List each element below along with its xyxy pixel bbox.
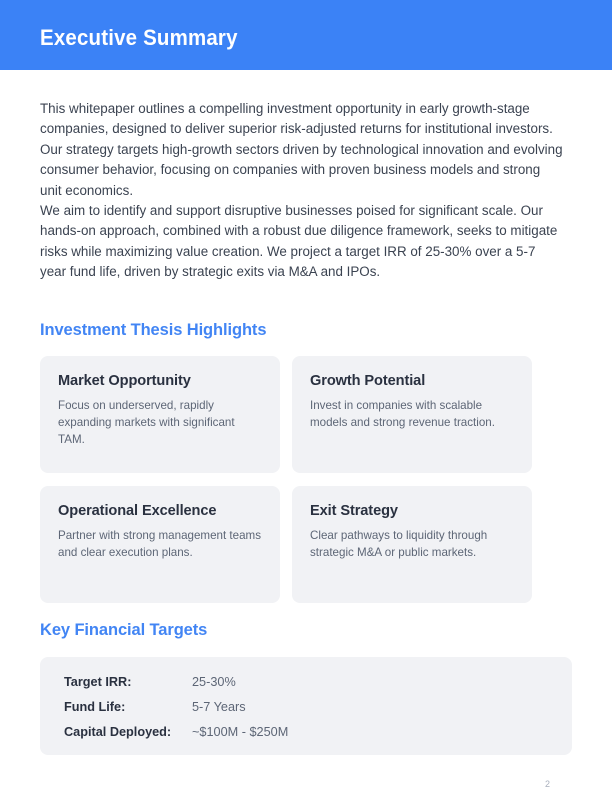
page-header-banner: Executive Summary bbox=[0, 0, 612, 70]
thesis-cards-grid: Market Opportunity Focus on underserved,… bbox=[40, 356, 532, 603]
card-title: Operational Excellence bbox=[58, 502, 262, 520]
card-description: Partner with strong management teams and… bbox=[58, 527, 262, 561]
section-heading-key-financial-targets: Key Financial Targets bbox=[40, 620, 207, 640]
card-description: Focus on underserved, rapidly expanding … bbox=[58, 397, 262, 448]
intro-paragraphs: This whitepaper outlines a compelling in… bbox=[40, 99, 563, 283]
card-title: Growth Potential bbox=[310, 372, 514, 390]
intro-paragraph-1: This whitepaper outlines a compelling in… bbox=[40, 99, 563, 201]
thesis-card-market-opportunity: Market Opportunity Focus on underserved,… bbox=[40, 356, 280, 473]
card-title: Market Opportunity bbox=[58, 372, 262, 390]
target-value: 5-7 Years bbox=[192, 698, 572, 723]
financial-targets-panel: Target IRR: 25-30% Fund Life: 5-7 Years … bbox=[40, 657, 572, 755]
card-description: Invest in companies with scalable models… bbox=[310, 397, 514, 431]
target-value: 25-30% bbox=[192, 673, 572, 698]
section-heading-investment-thesis: Investment Thesis Highlights bbox=[40, 320, 266, 340]
target-label: Capital Deployed: bbox=[64, 723, 192, 748]
table-row: Target IRR: 25-30% bbox=[64, 673, 572, 698]
card-title: Exit Strategy bbox=[310, 502, 514, 520]
thesis-card-exit-strategy: Exit Strategy Clear pathways to liquidit… bbox=[292, 486, 532, 603]
card-description: Clear pathways to liquidity through stra… bbox=[310, 527, 514, 561]
target-label: Fund Life: bbox=[64, 698, 192, 723]
page-title: Executive Summary bbox=[40, 25, 238, 51]
target-value: ~$100M - $250M bbox=[192, 723, 572, 748]
table-row: Capital Deployed: ~$100M - $250M bbox=[64, 723, 572, 748]
thesis-card-operational-excellence: Operational Excellence Partner with stro… bbox=[40, 486, 280, 603]
thesis-card-growth-potential: Growth Potential Invest in companies wit… bbox=[292, 356, 532, 473]
intro-paragraph-2: We aim to identify and support disruptiv… bbox=[40, 201, 563, 283]
table-row: Fund Life: 5-7 Years bbox=[64, 698, 572, 723]
financial-targets-table: Target IRR: 25-30% Fund Life: 5-7 Years … bbox=[64, 673, 572, 748]
page-number: 2 bbox=[545, 779, 550, 790]
target-label: Target IRR: bbox=[64, 673, 192, 698]
